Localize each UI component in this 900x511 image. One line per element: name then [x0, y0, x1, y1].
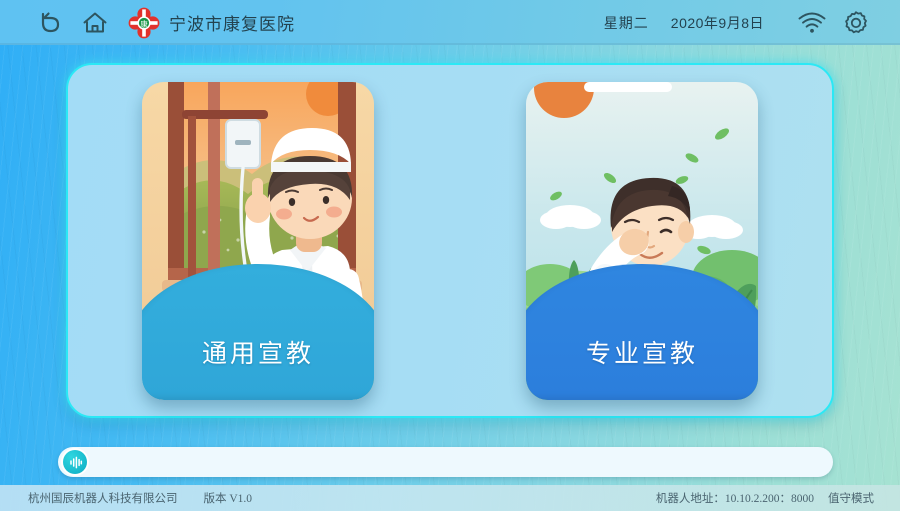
hospital-name: 宁波市康复医院 — [169, 10, 295, 35]
robot-address: 机器人地址：10.10.2.200：8000 — [656, 490, 814, 506]
mode-label: 值守模式 — [828, 490, 874, 506]
weekday-label: 星期二 — [604, 13, 649, 33]
footer-right-group: 机器人地址：10.10.2.200：8000 值守模式 — [656, 490, 900, 506]
card-general-label-banner: 通用宣教 — [142, 264, 374, 400]
card-general-label-text: 通用宣教 — [202, 334, 314, 370]
card-general-education[interactable]: 通用宣教 — [142, 82, 374, 400]
back-arrow-icon[interactable] — [26, 0, 72, 45]
card-professional-label-text: 专业宣教 — [586, 334, 698, 370]
header-right-group: 星期二 2020年9月8日 — [604, 0, 900, 45]
voice-waveform-icon[interactable] — [63, 450, 87, 474]
header-left-group: 康 宁波市康复医院 — [0, 0, 295, 45]
footer-left-group: 杭州国辰机器人科技有限公司 版本 V1.0 — [0, 490, 252, 506]
app-header: 康 宁波市康复医院 星期二 2020年9月8日 — [0, 0, 900, 45]
company-name: 杭州国辰机器人科技有限公司 — [28, 490, 178, 506]
card-professional-label-banner: 专业宣教 — [526, 264, 758, 400]
card-professional-education[interactable]: 专业宣教 — [526, 82, 758, 400]
hospital-cross-logo: 康 — [128, 7, 160, 39]
voice-input-bar[interactable] — [58, 447, 833, 477]
date-label: 2020年9月8日 — [671, 13, 764, 33]
version-label: 版本 V1.0 — [204, 490, 253, 506]
content-panel: 通用宣教 — [66, 63, 834, 418]
home-icon[interactable] — [72, 0, 118, 45]
app-root: 康 宁波市康复医院 星期二 2020年9月8日 — [0, 0, 900, 511]
app-footer: 杭州国辰机器人科技有限公司 版本 V1.0 机器人地址：10.10.2.200：… — [0, 485, 900, 511]
wifi-icon[interactable] — [790, 0, 834, 45]
gear-icon[interactable] — [834, 0, 878, 45]
svg-text:康: 康 — [140, 19, 148, 28]
voice-text-input[interactable] — [87, 455, 833, 470]
